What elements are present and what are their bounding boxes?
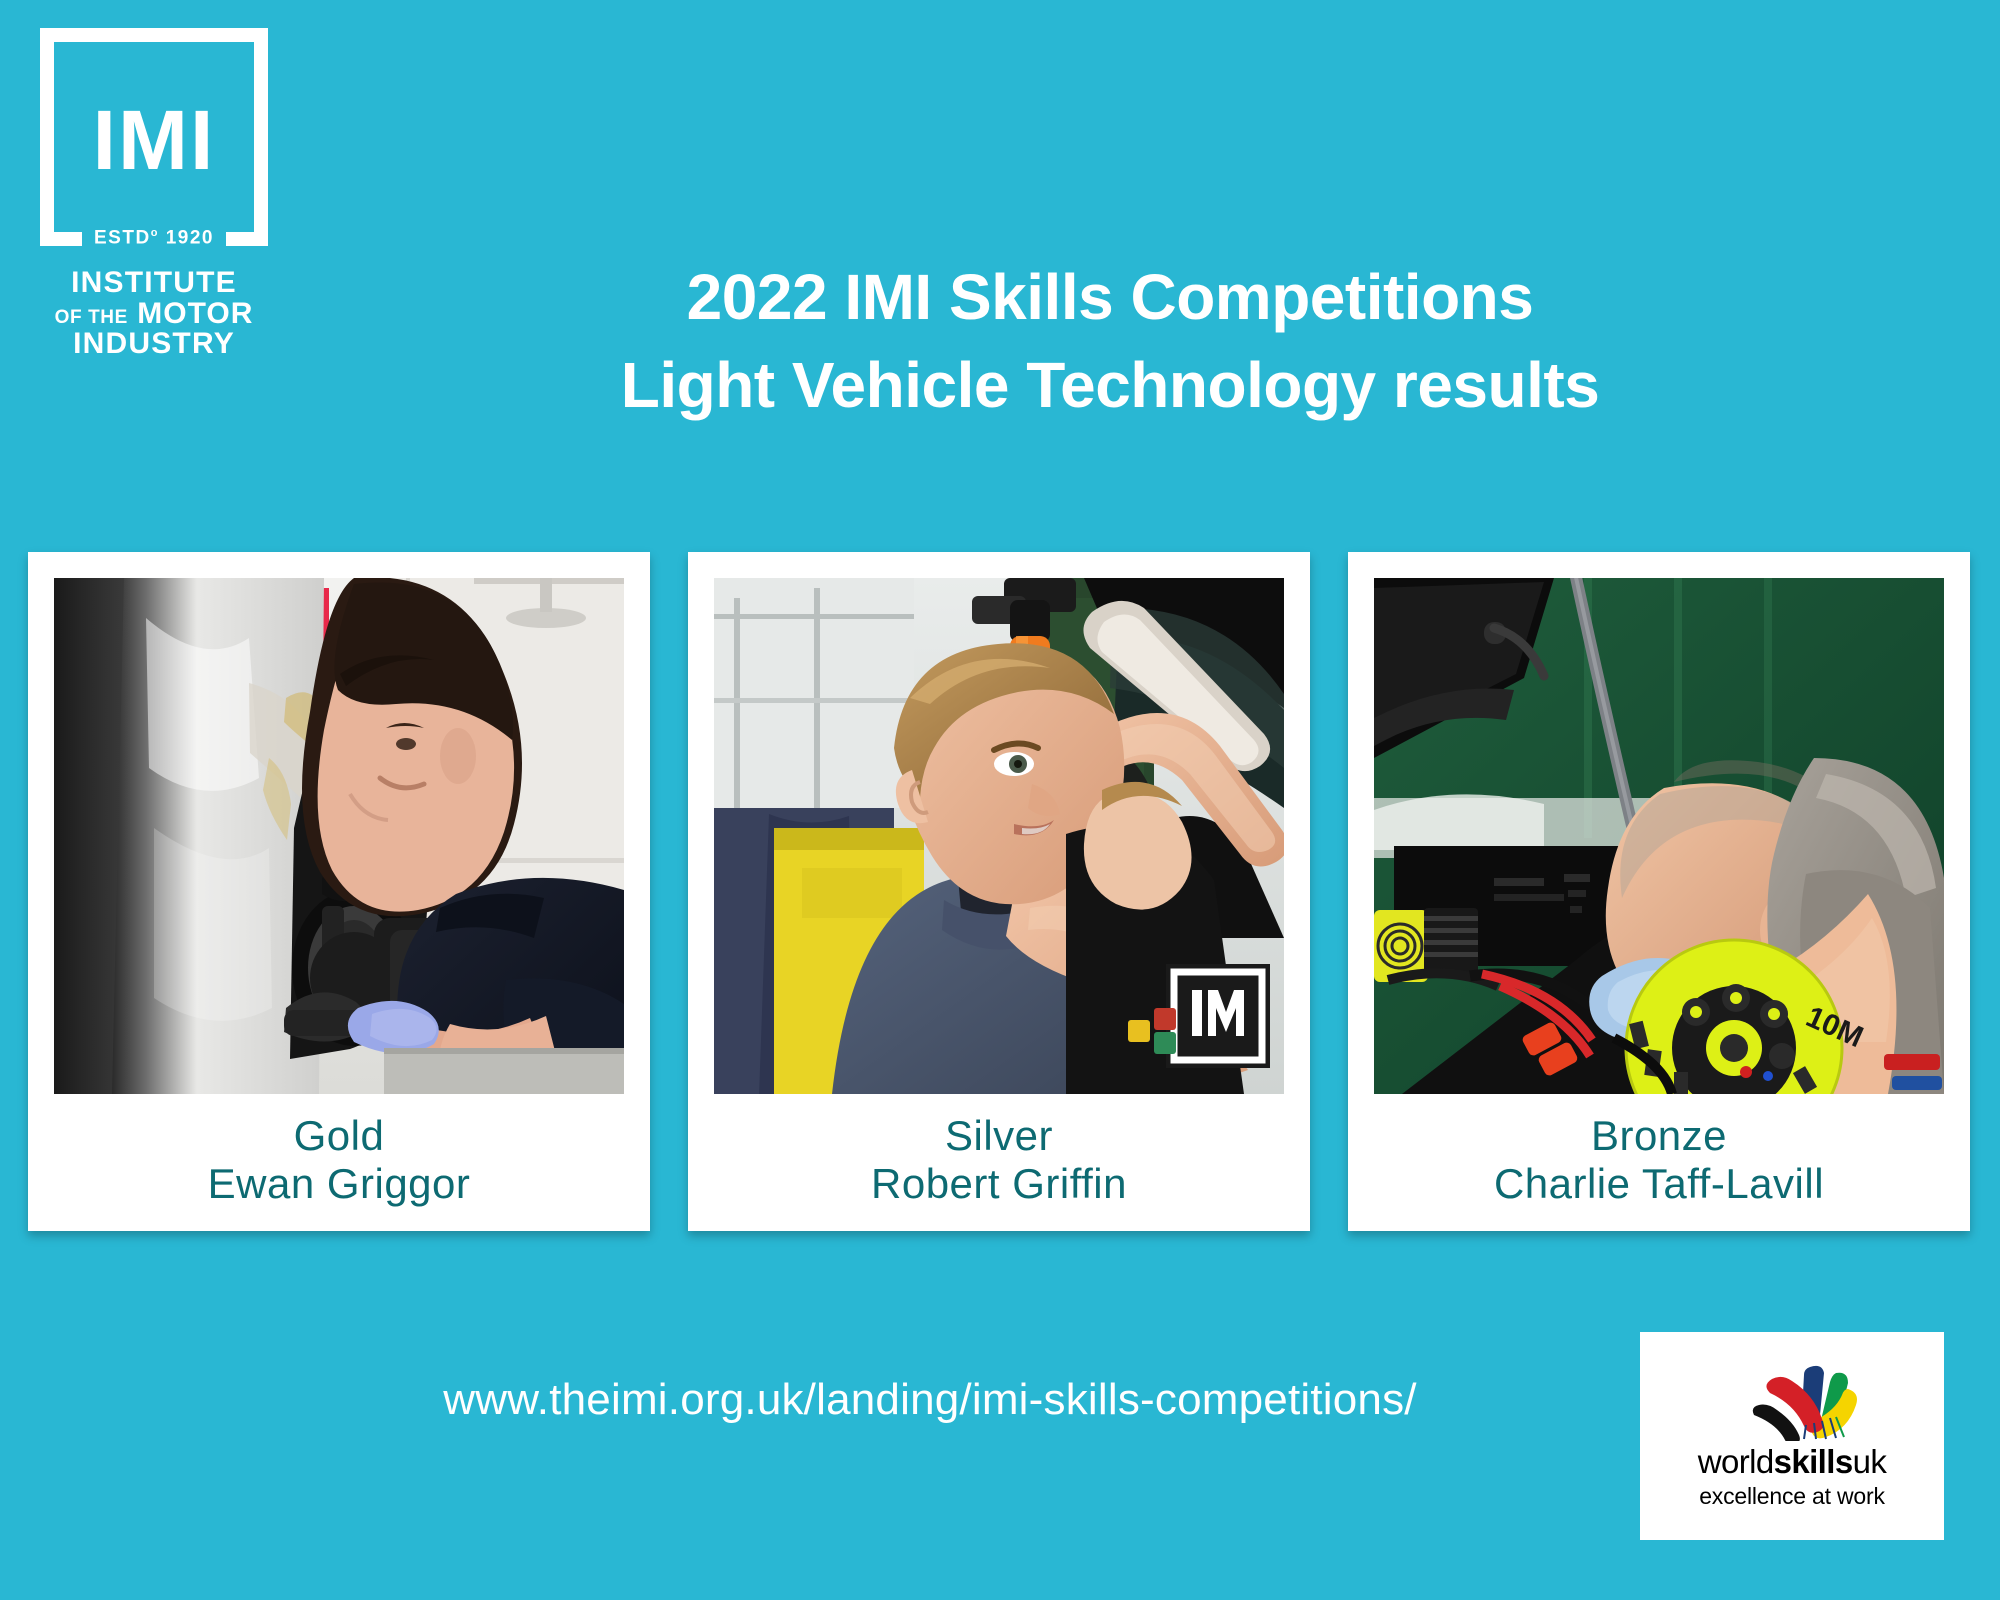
winner-caption-silver: Silver Robert Griffin [714, 1094, 1284, 1231]
imi-wordmark-line1: INSTITUTE [40, 268, 268, 299]
winner-card-silver: Silver Robert Griffin [688, 552, 1310, 1231]
title-line-1: 2022 IMI Skills Competitions [330, 262, 1890, 334]
winner-name-silver: Robert Griffin [871, 1160, 1127, 1208]
imi-logo-letters: IMI [54, 98, 254, 182]
estd-prefix: ESTD [94, 227, 151, 248]
imi-logo-mark: IMI ESTDo 1920 [40, 28, 268, 246]
imi-logo-estd-wrap: ESTDo 1920 [40, 232, 268, 246]
photo-illustration-silver [714, 578, 1284, 1094]
estd-ordinal: o [151, 227, 159, 239]
winner-caption-gold: Gold Ewan Griggor [54, 1094, 624, 1231]
imi-logo-estd: ESTDo 1920 [82, 227, 226, 249]
winner-card-bronze: 10M Bronze Charlie Taff-Lavill [1348, 552, 1970, 1231]
winner-card-gold: Gold Ewan Griggor [28, 552, 650, 1231]
winner-photo-silver [714, 578, 1284, 1094]
winner-photo-bronze: 10M [1374, 578, 1944, 1094]
worldskills-uk-logo: worldskillsuk excellence at work [1640, 1332, 1944, 1540]
winner-cards: Gold Ewan Griggor [28, 552, 1972, 1231]
photo-illustration-gold [54, 578, 624, 1094]
worldskills-tagline: excellence at work [1699, 1483, 1885, 1510]
winner-medal-gold: Gold [294, 1112, 385, 1160]
wsuk-skills: skills [1774, 1443, 1853, 1480]
title-line-2: Light Vehicle Technology results [330, 350, 1890, 422]
winner-photo-gold [54, 578, 624, 1094]
poster-canvas: IMI ESTDo 1920 INSTITUTE OF THE MOTOR IN… [0, 0, 2000, 1600]
wsuk-uk: uk [1853, 1443, 1887, 1480]
imi-wordmark-motor: MOTOR [137, 297, 253, 330]
worldskills-wordmark: worldskillsuk [1698, 1443, 1886, 1481]
winner-medal-bronze: Bronze [1591, 1112, 1727, 1160]
imi-wordmark: INSTITUTE OF THE MOTOR INDUSTRY [40, 268, 268, 360]
imi-wordmark-of-the: OF THE [55, 307, 128, 328]
wsuk-world: world [1698, 1443, 1774, 1480]
poster-title: 2022 IMI Skills Competitions Light Vehic… [330, 262, 1890, 421]
imi-wordmark-line2: OF THE MOTOR [40, 299, 268, 330]
estd-year: 1920 [166, 227, 214, 248]
footer-url[interactable]: www.theimi.org.uk/landing/imi-skills-com… [300, 1375, 1560, 1425]
imi-logo: IMI ESTDo 1920 INSTITUTE OF THE MOTOR IN… [40, 28, 280, 360]
imi-wordmark-line3: INDUSTRY [40, 329, 268, 360]
photo-illustration-bronze: 10M [1374, 578, 1944, 1094]
winner-name-gold: Ewan Griggor [208, 1160, 471, 1208]
winner-medal-silver: Silver [945, 1112, 1053, 1160]
winner-name-bronze: Charlie Taff-Lavill [1494, 1160, 1824, 1208]
winner-caption-bronze: Bronze Charlie Taff-Lavill [1374, 1094, 1944, 1231]
worldskills-swoosh-icon [1752, 1363, 1880, 1441]
